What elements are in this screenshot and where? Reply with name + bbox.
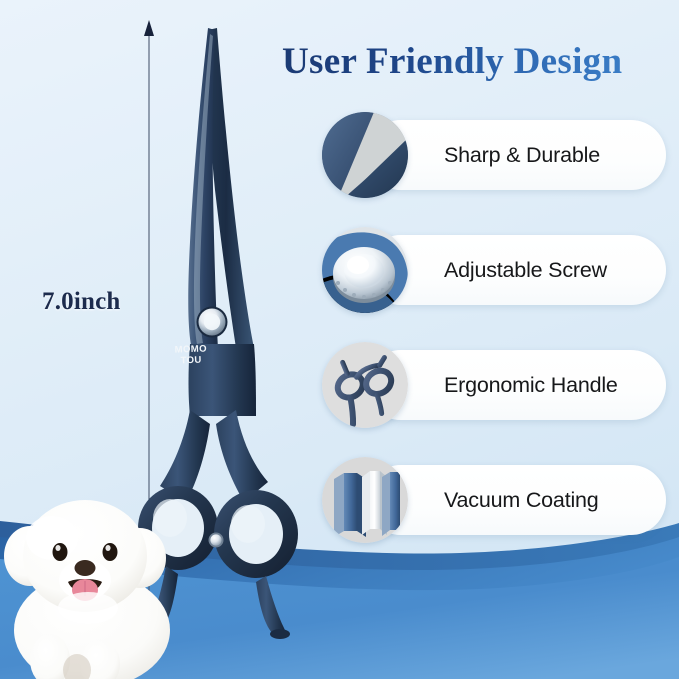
feature-label: Vacuum Coating bbox=[444, 488, 599, 513]
product-infographic: 7.0inch bbox=[0, 0, 679, 679]
page-title: User Friendly Design bbox=[282, 40, 674, 83]
coating-layers-icon bbox=[322, 457, 408, 543]
screw-icon bbox=[322, 227, 408, 313]
feature-list: Sharp & Durable bbox=[322, 112, 679, 572]
dog-image bbox=[0, 480, 207, 679]
feature-item-ergonomic-handle[interactable]: Ergonomic Handle bbox=[322, 342, 679, 428]
blade-edge-icon bbox=[322, 112, 408, 198]
handle-rings-icon bbox=[322, 342, 408, 428]
feature-item-adjustable-screw[interactable]: Adjustable Screw bbox=[322, 227, 679, 313]
feature-item-sharp-durable[interactable]: Sharp & Durable bbox=[322, 112, 679, 198]
feature-label: Adjustable Screw bbox=[444, 258, 607, 283]
feature-label: Sharp & Durable bbox=[444, 143, 600, 168]
size-label: 7.0inch bbox=[42, 288, 121, 316]
feature-item-vacuum-coating[interactable]: Vacuum Coating bbox=[322, 457, 679, 543]
feature-label: Ergonomic Handle bbox=[444, 373, 618, 398]
